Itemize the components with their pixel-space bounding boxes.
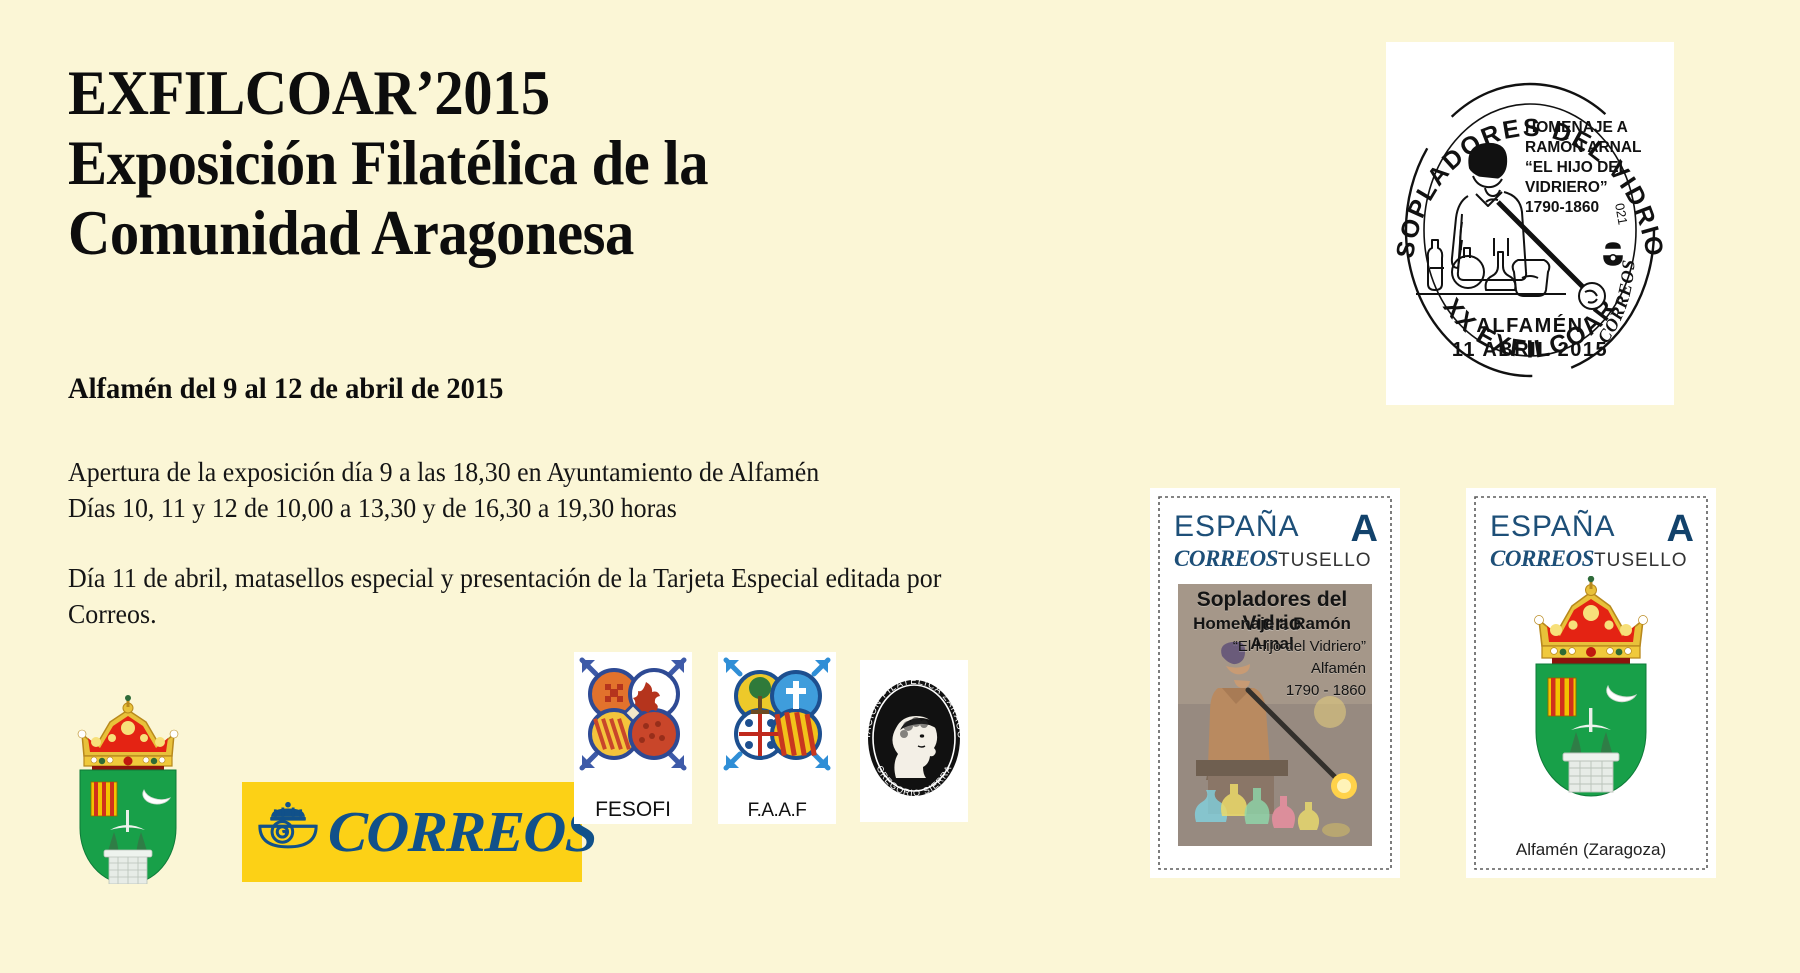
stamp1-art-line-5: 1790 - 1860 [1178,682,1366,699]
postmark-inner-line-1: HOMENAJE A [1525,119,1628,136]
title-line-2: Exposición Filatélica de la [68,128,1054,198]
faaf-label: F.A.A.F [718,800,836,822]
title-line-1: EXFILCOAR’2015 [68,58,1054,128]
stamp1-product: TUSELLO [1278,550,1372,572]
stamp2-value: A [1667,508,1694,551]
correos-wordmark: CORREOS [327,803,598,861]
postmark-place: ALFAMÉN [1476,314,1583,337]
stamp2-caption: Alfamén (Zaragoza) [1466,840,1716,860]
stamp1-artwork: Sopladores del Vidrio Homenaje a Ramón A… [1178,584,1372,846]
aragon-bars-icon [1548,678,1576,716]
stamp1-art-line-3: “El Hijo del Vidriero” [1178,638,1366,655]
special-postmark: SOPLADORES DEL VIDRIO XX EXFILCOAR CORRE… [1386,42,1674,405]
stamp2-product: TUSELLO [1594,550,1688,572]
crown-icon [78,695,178,780]
postmark-inner-line-5: 1790-1860 [1525,199,1599,216]
postmark-inner-line-2: RAMÓN ARNAL [1525,138,1642,156]
crown-icon [1535,576,1648,674]
alfamen-coat-of-arms-logo [58,694,198,884]
event-dates-subtitle: Alfamén del 9 al 12 de abril de 2015 [68,372,503,406]
stamp2-operator: CORREOS [1490,546,1594,572]
special-postmark-paragraph: Día 11 de abril, matasellos especial y p… [68,560,990,632]
postmark-date: 11 ABRIL 2015 [1452,339,1608,361]
title-line-3: Comunidad Aragonesa [68,198,1054,268]
stamp1-value: A [1351,508,1378,551]
page-title: EXFILCOAR’2015 Exposición Filatélica de … [68,58,1128,268]
fesofi-label: FESOFI [574,798,692,822]
afz-logo: ASOCIACIÓN FILATÉLICA ZARAGOZANA · GREGO… [860,660,968,822]
postmark-inner-line-3: “EL HIJO DEL [1525,159,1628,176]
faaf-logo: F.A.A.F [718,652,836,824]
schedule-line-1: Apertura de la exposición día 9 a las 18… [68,454,819,490]
schedule-paragraph: Apertura de la exposición día 9 a las 18… [68,454,819,526]
postmark-inner-line-4: VIDRIERO” [1525,179,1608,196]
fesofi-logo: FESOFI [574,652,692,824]
stamp1-art-line-4: Alfamén [1178,660,1366,677]
stamp2-country: ESPAÑA [1490,510,1616,544]
stamp-sopladores: ESPAÑA A CORREOS TUSELLO [1150,488,1400,878]
stamp-alfamen-arms: ESPAÑA A CORREOS TUSELLO [1466,488,1716,878]
stamp1-operator: CORREOS [1174,546,1278,572]
aragon-bars-icon [91,782,117,816]
schedule-line-2: Días 10, 11 y 12 de 10,00 a 13,30 y de 1… [68,490,819,526]
correos-logo: CORREOS [242,782,582,882]
poster-canvas: EXFILCOAR’2015 Exposición Filatélica de … [0,0,1800,973]
stamp2-coat-of-arms [1516,576,1666,806]
post-horn-icon [254,800,322,865]
stamp1-country: ESPAÑA [1174,510,1300,544]
